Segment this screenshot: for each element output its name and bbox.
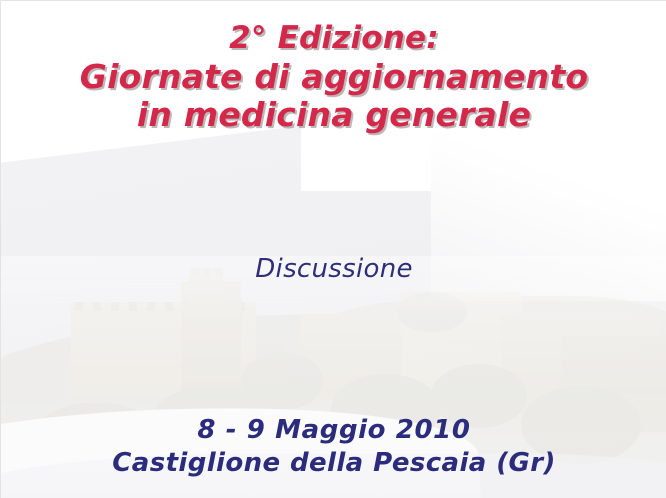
castle-wall-left: [301, 314, 421, 400]
title-line-1: 2° Edizione:: [1, 23, 666, 55]
castle-main-block: [71, 302, 256, 397]
event-location: Castiglione della Pescaia (Gr): [1, 449, 666, 478]
castle-keep: [181, 282, 241, 400]
title-line-2: Giornate di aggiornamento: [1, 60, 666, 94]
slide-footer: 8 - 9 Maggio 2010 Castiglione della Pesc…: [1, 416, 666, 478]
event-date: 8 - 9 Maggio 2010: [1, 416, 666, 445]
vegetation-mass: [397, 292, 467, 332]
title-line-3: in medicina generale: [1, 98, 666, 132]
presentation-slide: 2° Edizione: Giornate di aggiornamento i…: [0, 0, 666, 498]
slide-title: 2° Edizione: Giornate di aggiornamento i…: [1, 23, 666, 132]
castle-wall-right: [501, 314, 661, 414]
castle-wall-center: [401, 292, 521, 404]
slide-subtitle: Discussione: [1, 254, 666, 284]
vegetation-mass: [241, 352, 323, 410]
